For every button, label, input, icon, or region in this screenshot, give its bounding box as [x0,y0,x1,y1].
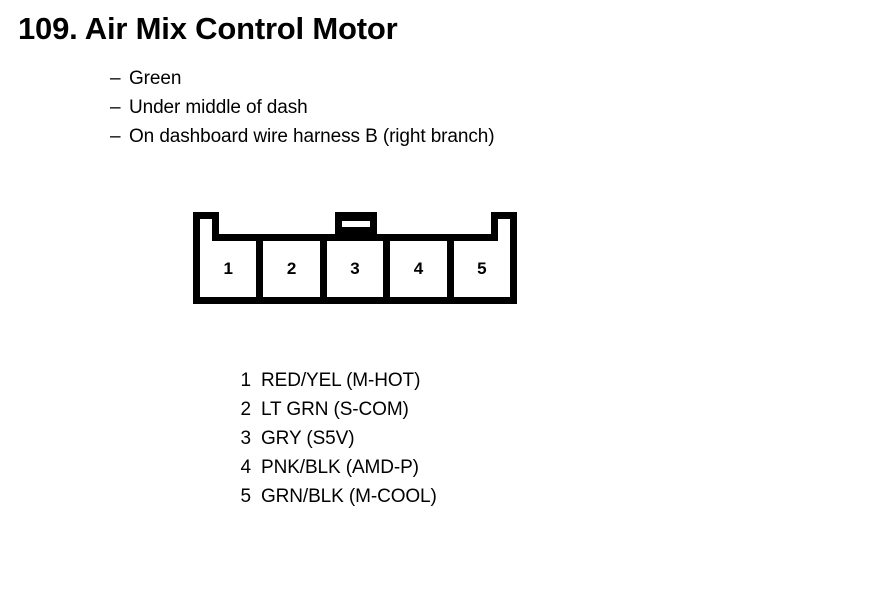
pin-number: 2 [232,395,251,424]
pin-wire-label: LT GRN (S-COM) [261,395,409,424]
connector-cavity-4: 4 [390,241,453,297]
pin-number: 1 [232,366,251,395]
pin-legend-row: 2 LT GRN (S-COM) [232,395,437,424]
connector-locking-tab-icon [335,212,377,241]
connector-cavity-label: 1 [223,260,232,277]
pin-legend-row: 1 RED/YEL (M-HOT) [232,366,437,395]
connector-cavity-label: 4 [414,260,423,277]
connector-locking-tab-slot-icon [342,221,370,227]
pin-wire-label: PNK/BLK (AMD-P) [261,453,419,482]
dash-bullet-icon: – [110,64,129,93]
pin-number: 5 [232,482,251,511]
description-item-label: Under middle of dash [129,97,308,118]
description-item-label: On dashboard wire harness B (right branc… [129,126,494,147]
connector-cavity-label: 2 [287,260,296,277]
description-list: –Green –Under middle of dash –On dashboa… [110,64,494,151]
pin-wire-label: RED/YEL (M-HOT) [261,366,420,395]
description-item: –Green [110,64,494,93]
connector-notch-right-icon [491,212,517,241]
connector-cavity-2: 2 [263,241,326,297]
pin-number: 4 [232,453,251,482]
page-title: 109. Air Mix Control Motor [18,11,397,47]
pin-legend-row: 3 GRY (S5V) [232,424,437,453]
connector-cavity-3: 3 [327,241,390,297]
pin-legend-row: 5 GRN/BLK (M-COOL) [232,482,437,511]
connector-cavity-label: 5 [477,260,486,277]
description-item-label: Green [129,68,181,89]
pin-wire-label: GRY (S5V) [261,424,354,453]
pin-wire-label: GRN/BLK (M-COOL) [261,482,437,511]
pin-legend: 1 RED/YEL (M-HOT) 2 LT GRN (S-COM) 3 GRY… [232,366,437,511]
connector-cavity-1: 1 [200,241,263,297]
dash-bullet-icon: – [110,93,129,122]
connector-notch-left-icon [193,212,219,241]
description-item: –On dashboard wire harness B (right bran… [110,122,494,151]
connector-cavity-5: 5 [454,241,510,297]
pin-legend-row: 4 PNK/BLK (AMD-P) [232,453,437,482]
dash-bullet-icon: – [110,122,129,151]
pin-number: 3 [232,424,251,453]
description-item: –Under middle of dash [110,93,494,122]
connector-diagram: 1 2 3 4 5 [193,212,517,304]
connector-cavity-label: 3 [350,260,359,277]
connector-cavity-row: 1 2 3 4 5 [200,241,510,297]
